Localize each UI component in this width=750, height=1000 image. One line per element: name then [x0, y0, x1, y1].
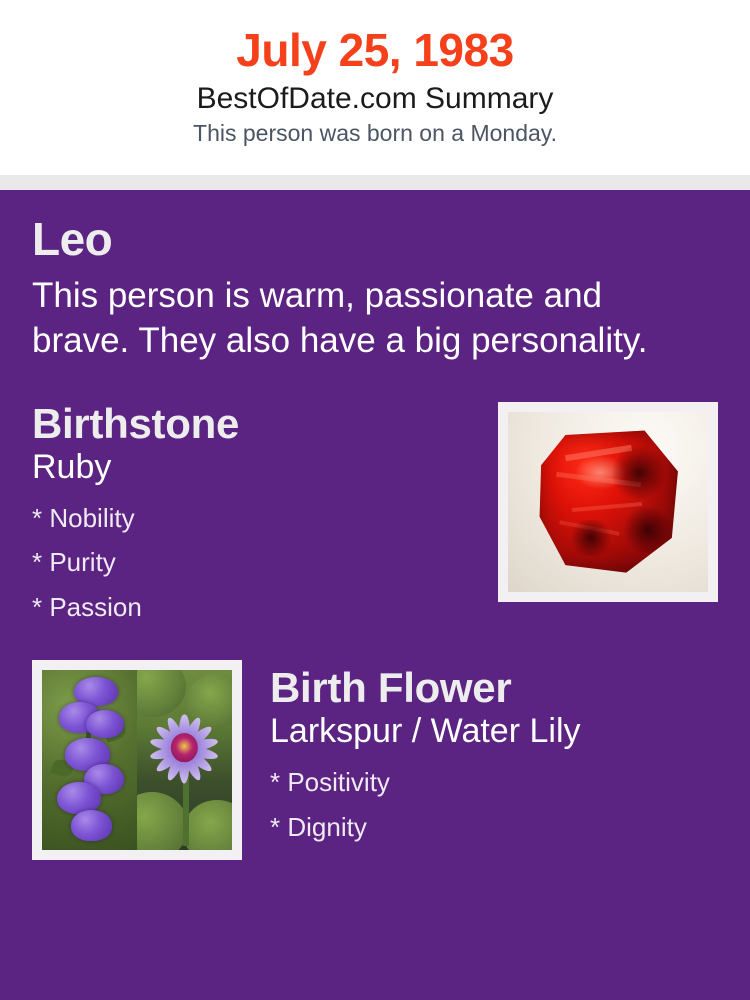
- birthflower-text-block: Birth Flower Larkspur / Water Lily * Pos…: [270, 660, 581, 850]
- larkspur-photo-half: [42, 670, 137, 850]
- waterlily-photo-half: [137, 670, 232, 850]
- birthflower-name: Larkspur / Water Lily: [270, 712, 581, 750]
- birthstone-name: Ruby: [32, 448, 239, 486]
- summary-panel: Leo This person is warm, passionate and …: [0, 190, 750, 1000]
- birthflower-trait-list: * Positivity * Dignity: [270, 760, 581, 849]
- larkspur-waterlily-photo: [42, 670, 232, 850]
- birthstone-heading: Birthstone: [32, 402, 239, 446]
- header: July 25, 1983 BestOfDate.com Summary Thi…: [0, 0, 750, 175]
- birth-day-of-week-note: This person was born on a Monday.: [193, 121, 557, 146]
- bestofdate-summary-card: July 25, 1983 BestOfDate.com Summary Thi…: [0, 0, 750, 1000]
- birthflower-photo-frame: [32, 660, 242, 860]
- birthstone-trait-list: * Nobility * Purity * Passion: [32, 496, 239, 630]
- list-item: * Passion: [32, 585, 239, 630]
- header-divider: [0, 175, 750, 190]
- birthstone-photo-frame: [498, 402, 718, 602]
- page-title-date: July 25, 1983: [236, 26, 513, 74]
- list-item: * Positivity: [270, 760, 581, 805]
- list-item: * Nobility: [32, 496, 239, 541]
- list-item: * Dignity: [270, 805, 581, 850]
- list-item: * Purity: [32, 540, 239, 585]
- site-name-subtitle: BestOfDate.com Summary: [197, 82, 554, 115]
- birthstone-text-block: Birthstone Ruby * Nobility * Purity * Pa…: [32, 402, 239, 630]
- birthflower-section: Birth Flower Larkspur / Water Lily * Pos…: [32, 660, 718, 860]
- birthstone-section: Birthstone Ruby * Nobility * Purity * Pa…: [32, 402, 718, 630]
- ruby-crystal-photo: [508, 412, 708, 592]
- zodiac-sign-title: Leo: [32, 216, 718, 262]
- birthflower-heading: Birth Flower: [270, 666, 581, 710]
- zodiac-description: This person is warm, passionate and brav…: [32, 274, 692, 364]
